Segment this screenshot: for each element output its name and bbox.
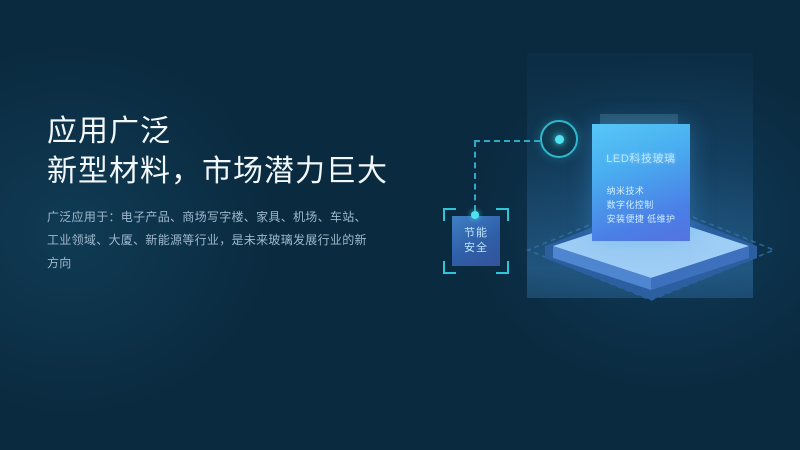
body-paragraph: 广泛应用于：电子产品、商场写字楼、家具、机场、车站、工业领域、大厦、新能源等行业… xyxy=(47,206,377,275)
bracket-bottom-right-icon xyxy=(496,261,509,274)
bracket-top-right-icon xyxy=(496,208,509,221)
list-item: 安装便捷 低维护 xyxy=(607,212,676,226)
text-block: 应用广泛 新型材料，市场潜力巨大 广泛应用于：电子产品、商场写字楼、家具、机场、… xyxy=(47,112,447,275)
node-dot-icon xyxy=(555,135,564,144)
glass-feature-list: 纳米技术 数字化控制 安装便捷 低维护 xyxy=(607,184,676,226)
headline-line-2: 新型材料，市场潜力巨大 xyxy=(47,152,447,192)
headline-line-1: 应用广泛 xyxy=(47,115,171,148)
badge-label-line-1: 节能 xyxy=(464,226,488,241)
list-item: 数字化控制 xyxy=(607,198,676,212)
slide-canvas: 应用广泛 新型材料，市场潜力巨大 广泛应用于：电子产品、商场写字楼、家具、机场、… xyxy=(0,0,800,450)
glass-panel-title: LED科技玻璃 xyxy=(606,150,676,166)
bracket-bottom-left-icon xyxy=(443,261,456,274)
page-title: 应用广泛 新型材料，市场潜力巨大 xyxy=(47,112,447,192)
connector-line-vertical xyxy=(474,141,476,211)
list-item: 纳米技术 xyxy=(607,184,676,198)
connector-line-horizontal xyxy=(474,140,540,142)
node-circle[interactable] xyxy=(540,120,578,158)
badge-box: 节能 安全 xyxy=(452,216,500,266)
badge-label-line-2: 安全 xyxy=(464,241,488,256)
bracket-top-left-icon xyxy=(443,208,456,221)
badge-dot-icon xyxy=(471,211,479,219)
feature-badge[interactable]: 节能 安全 xyxy=(443,208,509,274)
glass-panel-card[interactable]: LED科技玻璃 纳米技术 数字化控制 安装便捷 低维护 xyxy=(592,124,690,241)
